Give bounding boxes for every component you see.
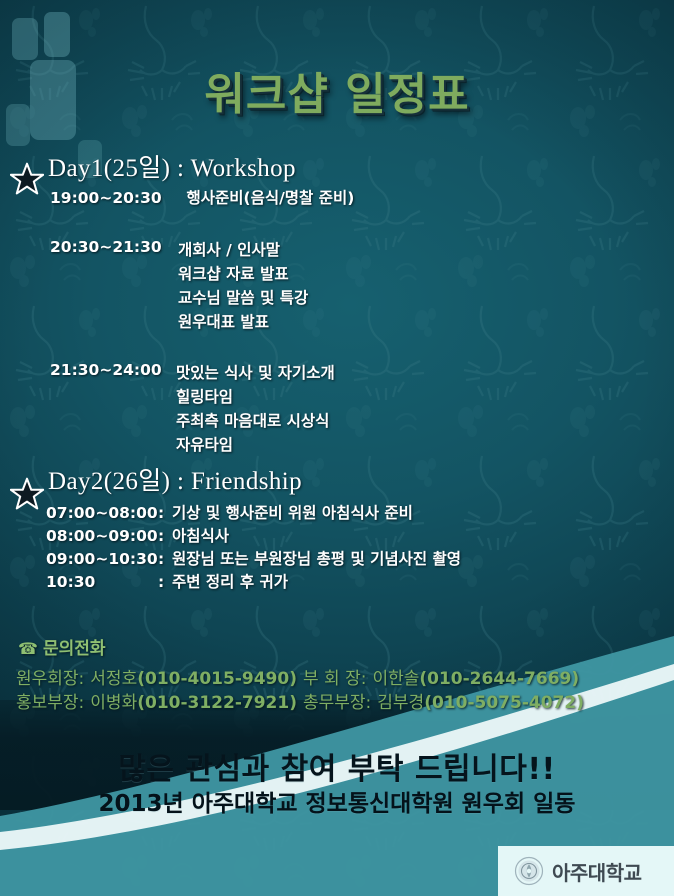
- contact-heading: ☎문의전화: [18, 634, 106, 659]
- contact-2-phone: (010-2644-7669): [419, 669, 579, 689]
- day1-block-3-item-4: 자유타임: [176, 433, 335, 457]
- day1-block-1-item-1: 행사준비(음식/명찰 준비): [186, 189, 354, 207]
- day1-block-2-item-3: 교수님 말씀 및 특강: [178, 286, 308, 310]
- decorative-square-2: [44, 12, 70, 57]
- day2-row-2-desc: 아침식사: [172, 527, 229, 545]
- contact-line-1: 원우회장:서정호(010-4015-9490)부 회 장:이한솔(010-264…: [16, 664, 579, 689]
- day2-row-4: 10:30:주변 정리 후 귀가: [46, 570, 288, 592]
- day2-row-4-time: 10:30: [46, 573, 158, 591]
- closing-signature: 2013년 아주대학교 정보통신대학원 원우회 일동: [0, 784, 674, 818]
- contact-2-name: 이한솔: [372, 669, 419, 689]
- contact-2-role: 부 회 장:: [303, 669, 366, 689]
- telephone-icon: ☎: [18, 639, 38, 658]
- contact-heading-label: 문의전화: [43, 639, 106, 659]
- day2-row-2-time: 08:00~09:00: [46, 527, 158, 545]
- contact-3-role: 홍보부장:: [16, 693, 84, 713]
- day1-block-2-item-1: 개회사 / 인사말: [178, 238, 308, 262]
- day2-row-3: 09:00~10:30:원장님 또는 부원장님 총평 및 기념사진 촬영: [46, 547, 461, 569]
- day2-row-1-time: 07:00~08:00: [46, 504, 158, 522]
- workshop-schedule-poster: 워크샵 일정표 Day1(25일) : Workshop 19:00~20:30…: [0, 0, 674, 896]
- decorative-square-1: [12, 18, 38, 60]
- day1-block-3-item-1: 맛있는 식사 및 자기소개: [176, 361, 335, 385]
- day2-heading: Day2(26일) : Friendship: [48, 461, 302, 497]
- ajou-university-emblem-icon: [514, 856, 544, 886]
- day2-row-4-desc: 주변 정리 후 귀가: [172, 573, 288, 591]
- day2-row-1: 07:00~08:00:기상 및 행사준비 위원 아침식사 준비: [46, 501, 413, 523]
- day1-heading: Day1(25일) : Workshop: [48, 148, 296, 184]
- contact-1-role: 원우회장:: [16, 669, 84, 689]
- day1-block-2: 20:30~21:30 개회사 / 인사말 워크샵 자료 발표 교수님 말씀 및…: [50, 238, 470, 338]
- day2-row-3-colon: :: [158, 550, 172, 568]
- day1-block-2-item-4: 원우대표 발표: [178, 310, 308, 334]
- contact-4-phone: (010-5075-4072): [424, 693, 584, 713]
- contact-line-2: 홍보부장:이병화(010-3122-7921)총무부장:김부경(010-5075…: [16, 688, 584, 713]
- star-icon: [10, 162, 44, 196]
- day1-block-1: 19:00~20:30 행사준비(음식/명찰 준비): [50, 188, 354, 209]
- page-title: 워크샵 일정표: [0, 58, 674, 122]
- day1-block-3-item-2: 힐링타임: [176, 385, 335, 409]
- contact-1-phone: (010-4015-9490): [137, 669, 297, 689]
- star-icon: [10, 477, 44, 511]
- university-logo: 아주대학교: [498, 846, 674, 896]
- day1-block-2-time: 20:30~21:30: [50, 238, 162, 256]
- contact-4-name: 김부경: [377, 693, 424, 713]
- contact-1-name: 서정호: [90, 669, 137, 689]
- day2-row-2: 08:00~09:00:아침식사: [46, 524, 229, 546]
- day1-block-2-item-2: 워크샵 자료 발표: [178, 262, 308, 286]
- university-logo-text: 아주대학교: [552, 857, 642, 886]
- closing-message: 많은 관심과 참여 부탁 드립니다!!: [0, 744, 674, 788]
- day1-block-3: 21:30~24:00 맛있는 식사 및 자기소개 힐링타임 주최측 마음대로 …: [50, 361, 470, 461]
- day2-row-4-colon: :: [158, 573, 172, 591]
- day1-block-3-items: 맛있는 식사 및 자기소개 힐링타임 주최측 마음대로 시상식 자유타임: [176, 361, 335, 457]
- contact-4-role: 총무부장:: [303, 693, 371, 713]
- contact-3-phone: (010-3122-7921): [137, 693, 297, 713]
- day1-block-1-time: 19:00~20:30: [50, 188, 162, 209]
- contact-3-name: 이병화: [90, 693, 137, 713]
- day2-row-1-colon: :: [158, 504, 172, 522]
- day1-block-3-item-3: 주최측 마음대로 시상식: [176, 409, 335, 433]
- day2-row-3-desc: 원장님 또는 부원장님 총평 및 기념사진 촬영: [172, 550, 461, 568]
- day2-row-3-time: 09:00~10:30: [46, 550, 158, 568]
- day1-block-3-time: 21:30~24:00: [50, 361, 162, 379]
- day1-block-2-items: 개회사 / 인사말 워크샵 자료 발표 교수님 말씀 및 특강 원우대표 발표: [178, 238, 308, 334]
- day2-row-1-desc: 기상 및 행사준비 위원 아침식사 준비: [172, 504, 413, 522]
- day2-row-2-colon: :: [158, 527, 172, 545]
